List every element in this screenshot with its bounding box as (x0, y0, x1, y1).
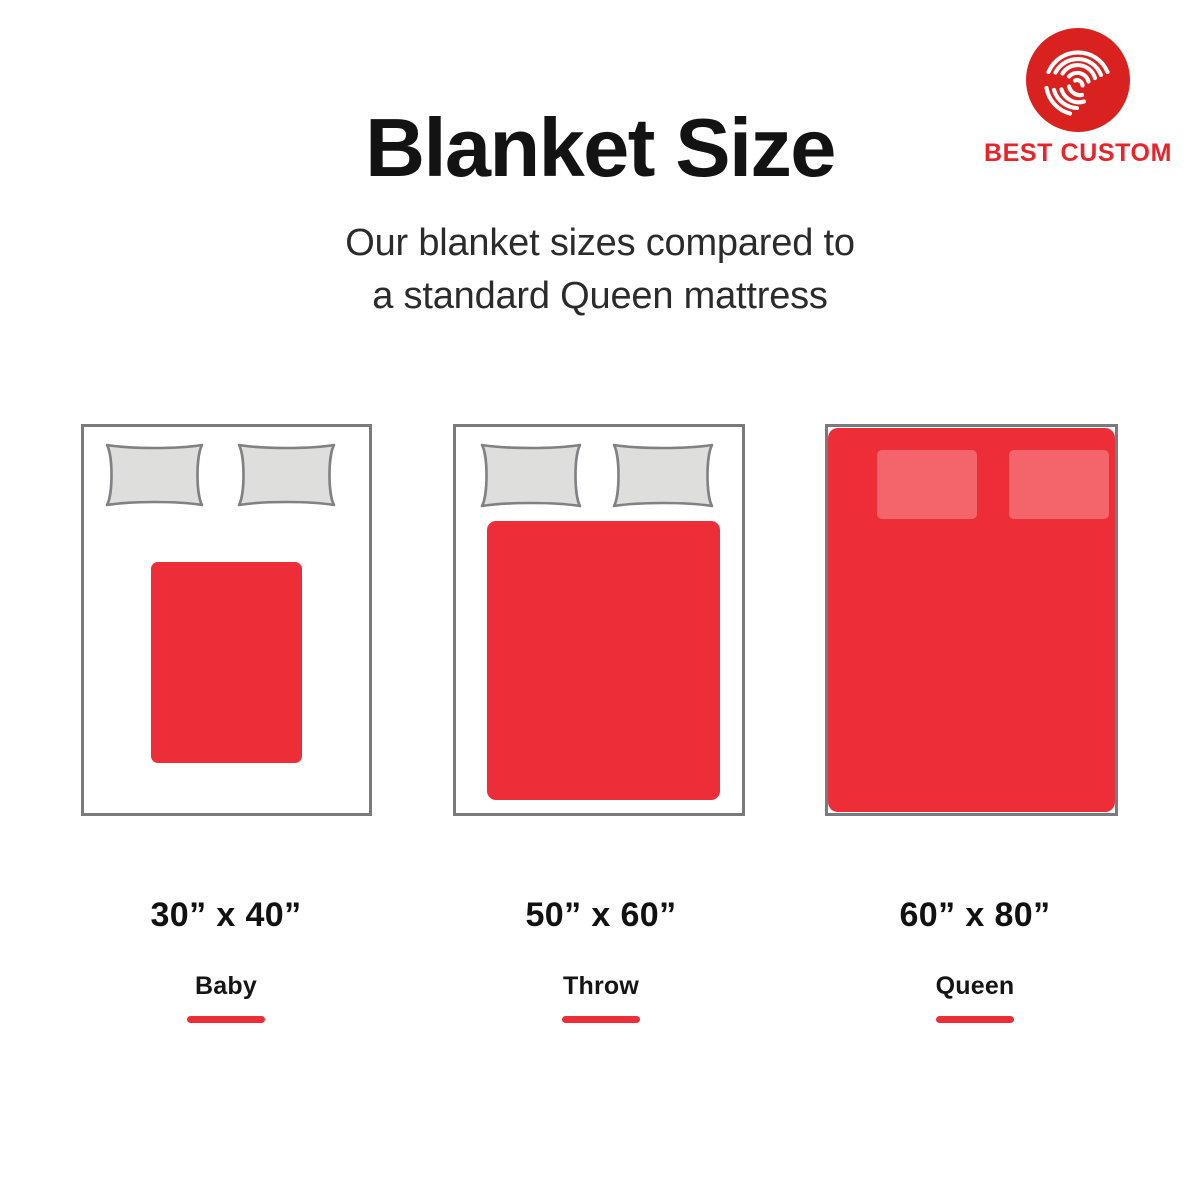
caption-queen: 60” x 80” Queen (825, 898, 1125, 1023)
pillow-icon (236, 442, 337, 508)
subtitle-line-2: a standard Queen mattress (0, 270, 1200, 322)
pillow-icon (1009, 450, 1109, 519)
caption-baby: 30” x 40” Baby (76, 898, 376, 1023)
pillow-icon (479, 442, 583, 509)
pillow-icon (877, 450, 977, 519)
size-name: Baby (76, 974, 376, 999)
size-dimensions: 60” x 80” (825, 898, 1125, 932)
throw-blanket (487, 521, 720, 800)
bed-diagrams-row (0, 424, 1200, 816)
size-name: Throw (451, 974, 751, 999)
bed-diagram-throw (453, 424, 745, 816)
size-dimensions: 30” x 40” (76, 898, 376, 932)
header: Blanket Size Our blanket sizes compared … (0, 0, 1200, 322)
subtitle-line-1: Our blanket sizes compared to (0, 217, 1200, 269)
baby-blanket (151, 562, 302, 763)
underline-accent (562, 1016, 640, 1023)
page-title: Blanket Size (0, 0, 1200, 191)
size-name: Queen (825, 974, 1125, 999)
size-dimensions: 50” x 60” (451, 898, 751, 932)
pillow-icon (104, 442, 205, 508)
pillow-icon (611, 442, 715, 509)
underline-accent (936, 1016, 1014, 1023)
queen-blanket (828, 428, 1115, 812)
bed-diagram-baby (81, 424, 372, 816)
caption-throw: 50” x 60” Throw (451, 898, 751, 1023)
page-subtitle: Our blanket sizes compared to a standard… (0, 191, 1200, 322)
bed-diagram-queen (825, 424, 1118, 816)
underline-accent (187, 1016, 265, 1023)
